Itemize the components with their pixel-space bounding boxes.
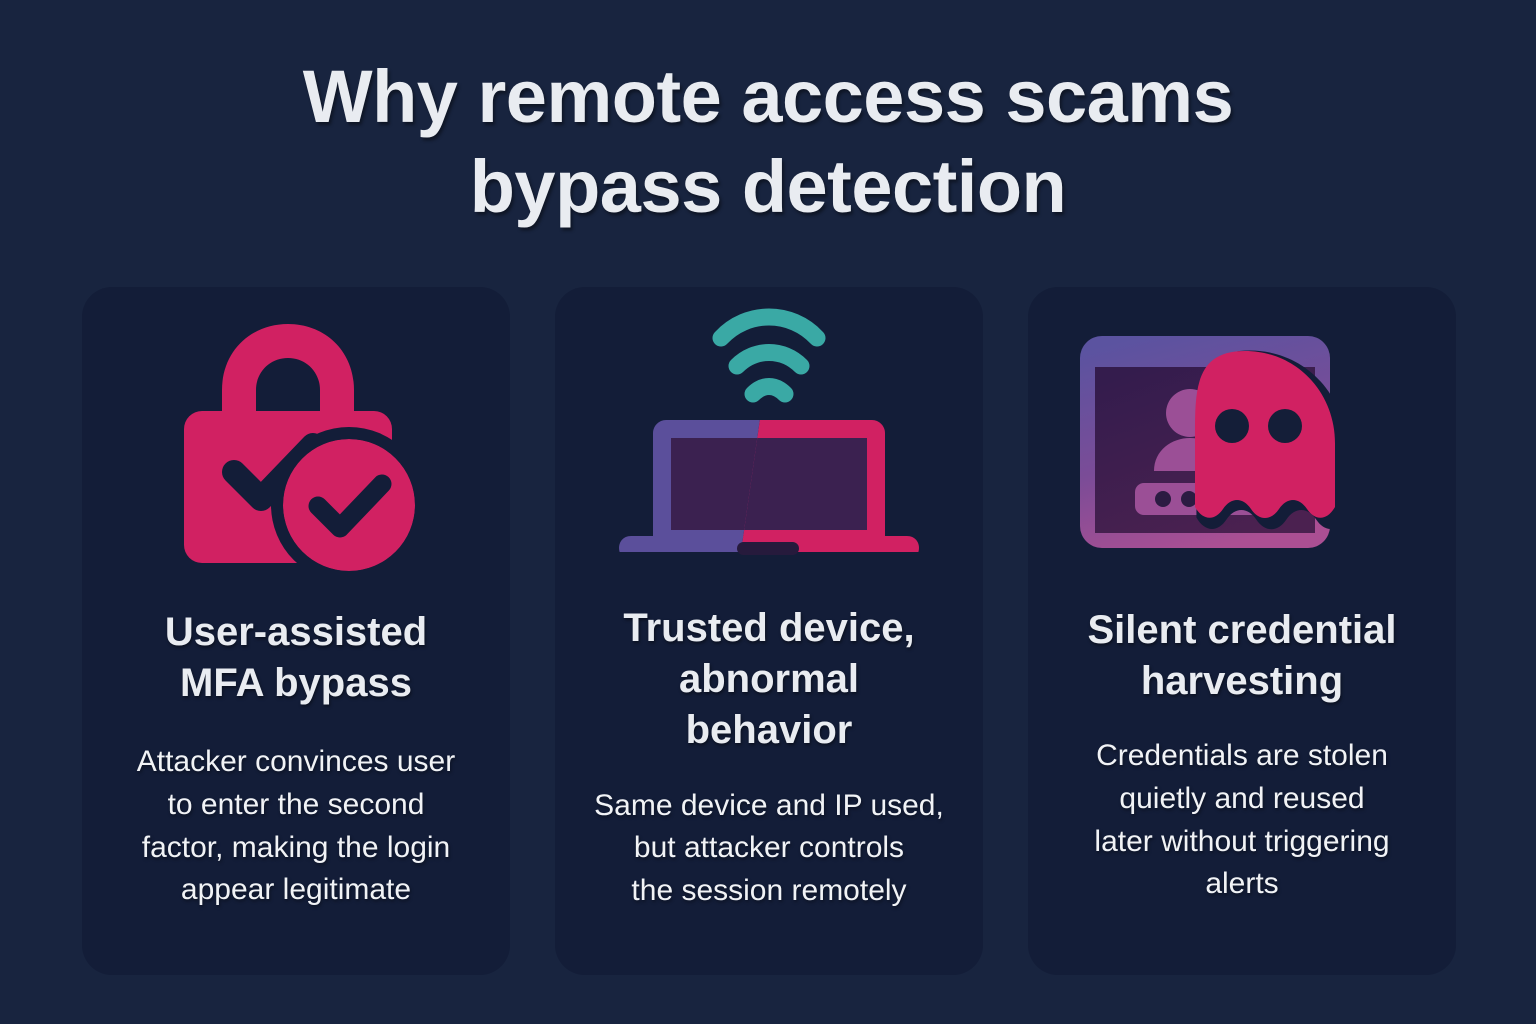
card-3-body: Credentials are stolen quietly and reuse… [1094, 735, 1389, 905]
card-3-heading: Silent credential harvesting [1088, 605, 1397, 707]
card-3-icon-area [1046, 287, 1438, 607]
card-silent-credential-harvesting: Silent credential harvesting Credentials… [1028, 287, 1456, 975]
card-1-heading: User-assisted MFA bypass [165, 607, 427, 709]
card-1-body: Attacker convinces user to enter the sec… [137, 741, 455, 911]
card-1-icon-area [100, 287, 492, 607]
card-2-body: Same device and IP used, but attacker co… [594, 785, 944, 913]
wifi-arcs [721, 317, 817, 394]
card-user-assisted-mfa-bypass: User-assisted MFA bypass Attacker convin… [82, 287, 510, 975]
card-trusted-device-abnormal-behavior: Trusted device, abnormal behavior Same d… [555, 287, 983, 975]
card-2-heading: Trusted device, abnormal behavior [623, 603, 914, 757]
laptop-split-wifi-icon [619, 302, 919, 592]
card-2-icon-area [573, 287, 965, 607]
login-window-ghost-icon [1077, 331, 1407, 563]
lock-check-icon [178, 318, 414, 576]
page-title: Why remote access scams bypass detection [0, 52, 1536, 233]
cards-container: User-assisted MFA bypass Attacker convin… [82, 287, 1456, 975]
